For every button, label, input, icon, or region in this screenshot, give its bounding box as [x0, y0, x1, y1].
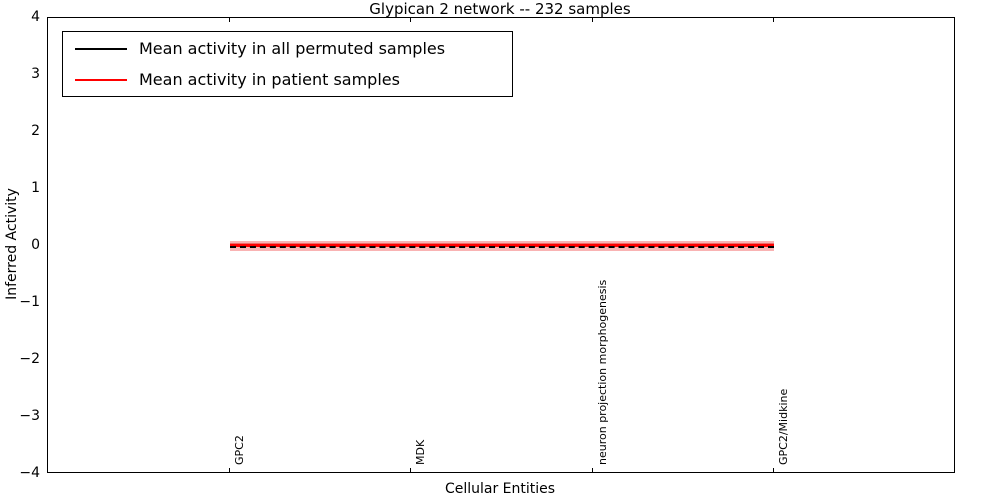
y-tick-label: 4 — [0, 10, 40, 24]
x-tick-mark-top — [229, 17, 230, 22]
y-tick-label: −4 — [0, 466, 40, 480]
y-tick-label: −2 — [0, 352, 40, 366]
x-tick-mark — [773, 468, 774, 473]
legend-item-permuted: Mean activity in all permuted samples — [63, 34, 512, 64]
y-tick-label: 2 — [0, 124, 40, 138]
x-tick-label: GPC2/Midkine — [778, 389, 789, 465]
y-tick-label: 3 — [0, 67, 40, 81]
x-tick-mark-top — [592, 17, 593, 22]
y-tick-label: 0 — [0, 238, 40, 252]
legend-swatch-patient — [75, 79, 127, 81]
y-tick-label: −3 — [0, 409, 40, 423]
legend: Mean activity in all permuted samples Me… — [62, 31, 513, 97]
y-tick-label: 1 — [0, 181, 40, 195]
x-tick-label: MDK — [415, 440, 426, 465]
figure: Glypican 2 network -- 232 samples Inferr… — [0, 0, 1000, 500]
x-tick-mark — [410, 468, 411, 473]
legend-label-permuted: Mean activity in all permuted samples — [139, 40, 445, 58]
x-tick-mark — [229, 468, 230, 473]
x-axis-label: Cellular Entities — [0, 481, 1000, 497]
chart-title: Glypican 2 network -- 232 samples — [0, 0, 1000, 18]
x-tick-mark-top — [410, 17, 411, 22]
x-tick-mark-top — [773, 17, 774, 22]
y-tick-label: −1 — [0, 295, 40, 309]
legend-label-patient: Mean activity in patient samples — [139, 71, 400, 89]
x-tick-label: GPC2 — [234, 435, 245, 465]
legend-swatch-permuted — [75, 48, 127, 50]
legend-item-patient: Mean activity in patient samples — [63, 65, 512, 95]
mean-line-permuted-samples — [230, 246, 775, 248]
x-tick-mark — [592, 468, 593, 473]
x-tick-label: neuron projection morphogenesis — [597, 280, 608, 465]
